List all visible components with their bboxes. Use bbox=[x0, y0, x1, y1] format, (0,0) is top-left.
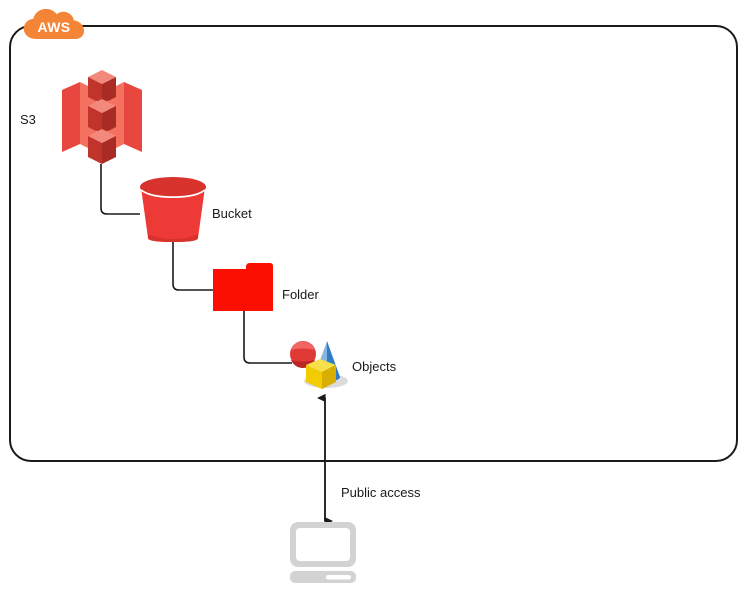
objects-icon bbox=[286, 339, 350, 391]
folder-icon bbox=[213, 263, 275, 313]
bucket-label: Bucket bbox=[212, 206, 252, 221]
public-access-label: Public access bbox=[341, 485, 420, 500]
computer-monitor-icon bbox=[288, 521, 360, 583]
s3-label: S3 bbox=[20, 112, 36, 127]
bucket-icon bbox=[136, 176, 210, 244]
diagram-canvas: AWS S3 bbox=[0, 0, 752, 589]
aws-s3-icon bbox=[60, 68, 144, 168]
folder-label: Folder bbox=[282, 287, 319, 302]
objects-label: Objects bbox=[352, 359, 396, 374]
aws-cloud-badge: AWS bbox=[23, 8, 85, 42]
aws-badge-label: AWS bbox=[23, 8, 85, 42]
